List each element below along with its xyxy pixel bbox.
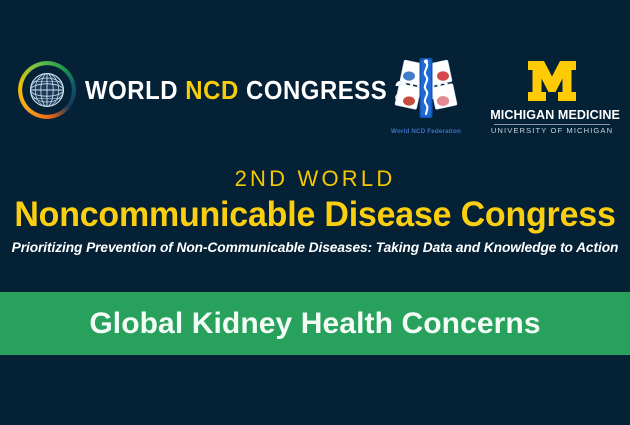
title-block: 2ND WORLD Noncommunicable Disease Congre… <box>0 168 630 255</box>
event-subtitle: Prioritizing Prevention of Non-Communica… <box>9 241 620 255</box>
congress-text-highlight: NCD <box>185 75 238 105</box>
session-banner: Global Kidney Health Concerns <box>0 292 630 355</box>
federation-caption: World NCD Federation <box>380 128 472 135</box>
page-title: Noncommunicable Disease Congress <box>9 197 620 232</box>
presentation-slide: WORLD NCD CONGRESS 2022 <box>0 0 630 425</box>
michigan-block-m-icon <box>527 59 577 103</box>
logo-bar: WORLD NCD CONGRESS 2022 <box>0 55 630 150</box>
globe-wireframe-icon <box>27 70 67 110</box>
star-of-life-icon <box>389 57 463 121</box>
world-ncd-federation-logo: World NCD Federation <box>380 57 472 135</box>
michigan-divider <box>494 124 610 125</box>
event-eyebrow: 2ND WORLD <box>0 168 630 190</box>
michigan-medicine-logo: MICHIGAN MEDICINE UNIVERSITY OF MICHIGAN <box>487 59 617 135</box>
session-title: Global Kidney Health Concerns <box>89 309 540 339</box>
slide-content-area <box>0 355 630 425</box>
congress-text-part1: WORLD <box>85 75 185 105</box>
globe-logo-icon <box>18 61 76 119</box>
michigan-university-subtitle: UNIVERSITY OF MICHIGAN <box>487 127 617 135</box>
michigan-medicine-name: MICHIGAN MEDICINE <box>490 108 614 121</box>
